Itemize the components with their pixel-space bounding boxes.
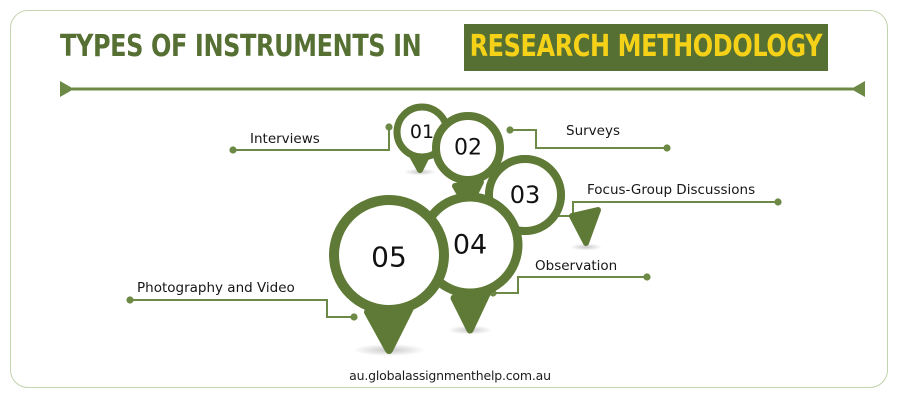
bubble-03-number: 03 xyxy=(510,181,541,209)
bubble-04-number: 04 xyxy=(453,230,487,261)
connector-photography-video xyxy=(126,296,357,320)
bubble-02-number: 02 xyxy=(454,136,482,161)
footer-url[interactable]: au.globalassignmenthelp.com.au xyxy=(0,368,900,383)
connector-observation xyxy=(489,273,650,296)
infographic-canvas: TYPES OF INSTRUMENTS IN RESEARCH METHODO… xyxy=(0,0,900,400)
label-focus-group-discussions: Focus-Group Discussions xyxy=(587,182,755,198)
bubble-05[interactable]: 05 xyxy=(334,200,444,350)
label-photography-and-video: Photography and Video xyxy=(137,280,295,296)
bubble-05-number: 05 xyxy=(371,241,407,274)
label-surveys: Surveys xyxy=(566,123,620,139)
bubble-diagram: 03 01 02 04 05 xyxy=(0,0,900,400)
bubble-01-number: 01 xyxy=(410,121,434,143)
label-interviews: Interviews xyxy=(250,131,320,147)
label-observation: Observation xyxy=(535,258,617,274)
